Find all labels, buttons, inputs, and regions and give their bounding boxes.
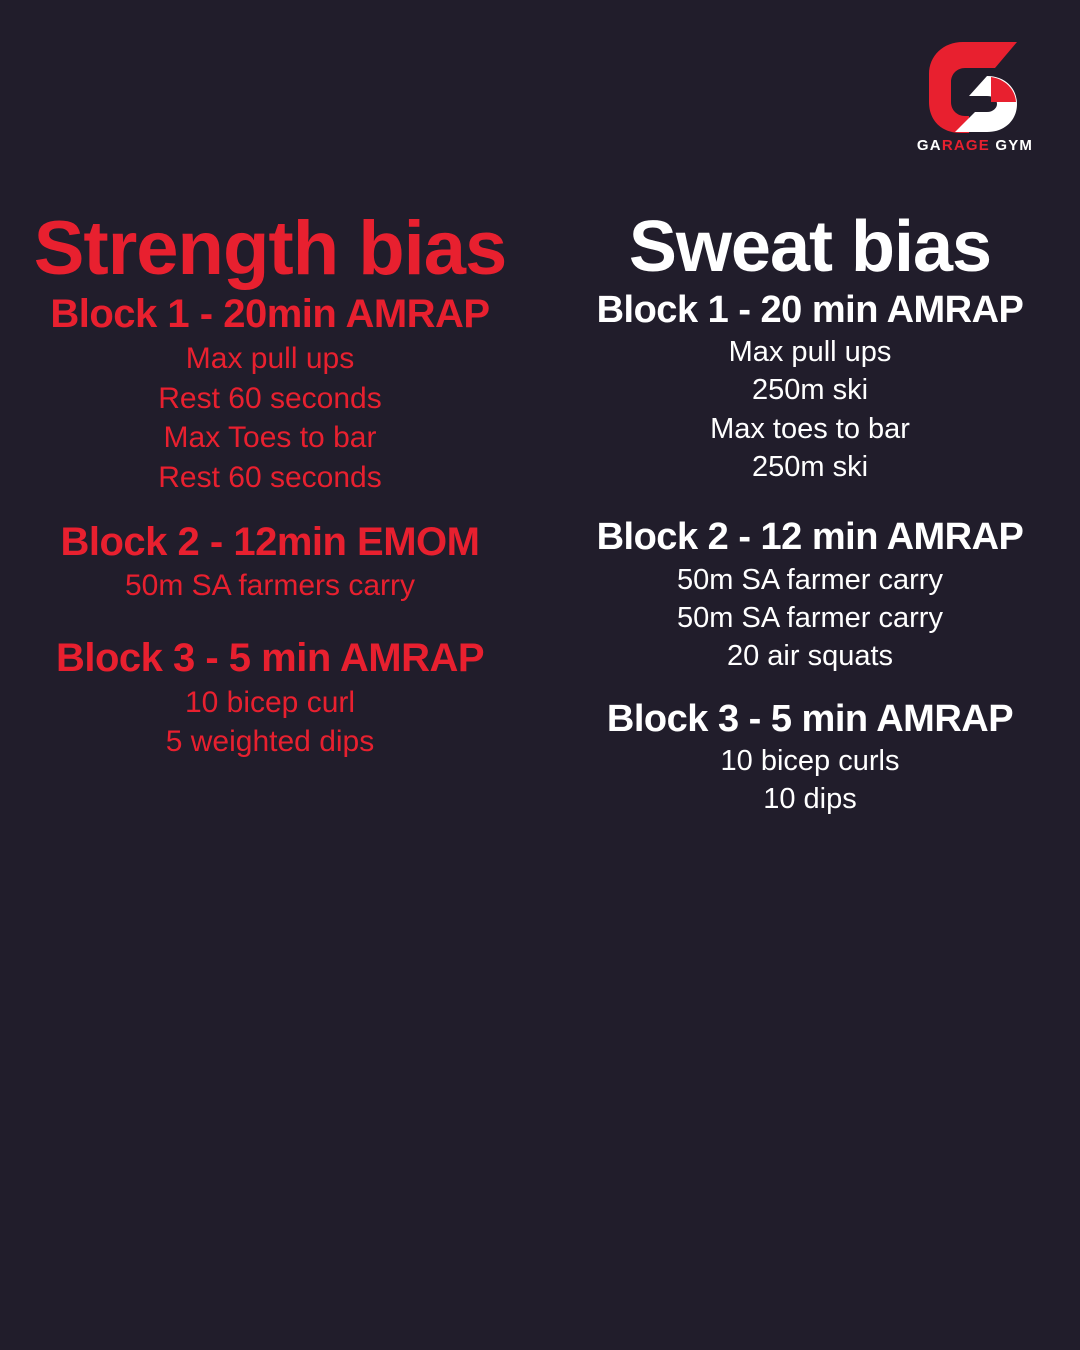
list-item: 10 bicep curls (580, 742, 1040, 780)
block-1-items-strength: Max pull ups Rest 60 seconds Max Toes to… (18, 339, 522, 497)
block-3-heading-strength: Block 3 - 5 min AMRAP (18, 636, 522, 681)
list-item: 250m ski (580, 448, 1040, 486)
spacer (18, 610, 522, 636)
block-3-strength: Block 3 - 5 min AMRAP 10 bicep curl 5 we… (18, 636, 522, 762)
block-3-items-sweat: 10 bicep curls 10 dips (580, 742, 1040, 819)
workout-columns: Strength bias Block 1 - 20min AMRAP Max … (0, 212, 1080, 823)
list-item: 50m SA farmer carry (580, 561, 1040, 599)
block-2-strength: Block 2 - 12min EMOM 50m SA farmers carr… (18, 520, 522, 606)
list-item: 10 bicep curl (18, 683, 522, 723)
list-item: 250m ski (580, 371, 1040, 409)
wordmark-accent: RAGE (942, 137, 990, 154)
block-2-items-sweat: 50m SA farmer carry 50m SA farmer carry … (580, 561, 1040, 676)
wordmark-part-2: GYM (990, 137, 1033, 154)
brand-wordmark: GARAGE GYM (915, 137, 1035, 154)
list-item: Max pull ups (580, 333, 1040, 371)
block-3-items-strength: 10 bicep curl 5 weighted dips (18, 683, 522, 762)
wordmark-part-1: GA (917, 137, 942, 154)
block-2-heading-sweat: Block 2 - 12 min AMRAP (580, 516, 1040, 559)
block-1-sweat: Block 1 - 20 min AMRAP Max pull ups 250m… (580, 289, 1040, 487)
list-item: 10 dips (580, 780, 1040, 818)
column-title-sweat: Sweat bias (580, 212, 1040, 283)
list-item: 5 weighted dips (18, 722, 522, 762)
garage-gym-logo-icon (925, 40, 1025, 135)
list-item: Rest 60 seconds (18, 379, 522, 419)
spacer (18, 502, 522, 520)
list-item: 50m SA farmers carry (18, 566, 522, 606)
block-2-sweat: Block 2 - 12 min AMRAP 50m SA farmer car… (580, 516, 1040, 675)
block-1-heading-strength: Block 1 - 20min AMRAP (18, 292, 522, 337)
list-item: Max toes to bar (580, 410, 1040, 448)
block-1-heading-sweat: Block 1 - 20 min AMRAP (580, 289, 1040, 332)
list-item: Max pull ups (18, 339, 522, 379)
spacer (580, 490, 1040, 516)
block-2-heading-strength: Block 2 - 12min EMOM (18, 520, 522, 565)
brand-logo: GARAGE GYM (915, 40, 1035, 154)
list-item: Rest 60 seconds (18, 458, 522, 498)
block-1-strength: Block 1 - 20min AMRAP Max pull ups Rest … (18, 292, 522, 497)
list-item: Max Toes to bar (18, 418, 522, 458)
list-item: 50m SA farmer carry (580, 599, 1040, 637)
column-sweat-bias: Sweat bias Block 1 - 20 min AMRAP Max pu… (540, 212, 1080, 823)
column-title-strength: Strength bias (18, 212, 522, 286)
column-strength-bias: Strength bias Block 1 - 20min AMRAP Max … (0, 212, 540, 766)
block-3-sweat: Block 3 - 5 min AMRAP 10 bicep curls 10 … (580, 698, 1040, 819)
block-2-items-strength: 50m SA farmers carry (18, 566, 522, 606)
block-3-heading-sweat: Block 3 - 5 min AMRAP (580, 698, 1040, 741)
spacer (580, 680, 1040, 698)
list-item: 20 air squats (580, 637, 1040, 675)
block-1-items-sweat: Max pull ups 250m ski Max toes to bar 25… (580, 333, 1040, 486)
